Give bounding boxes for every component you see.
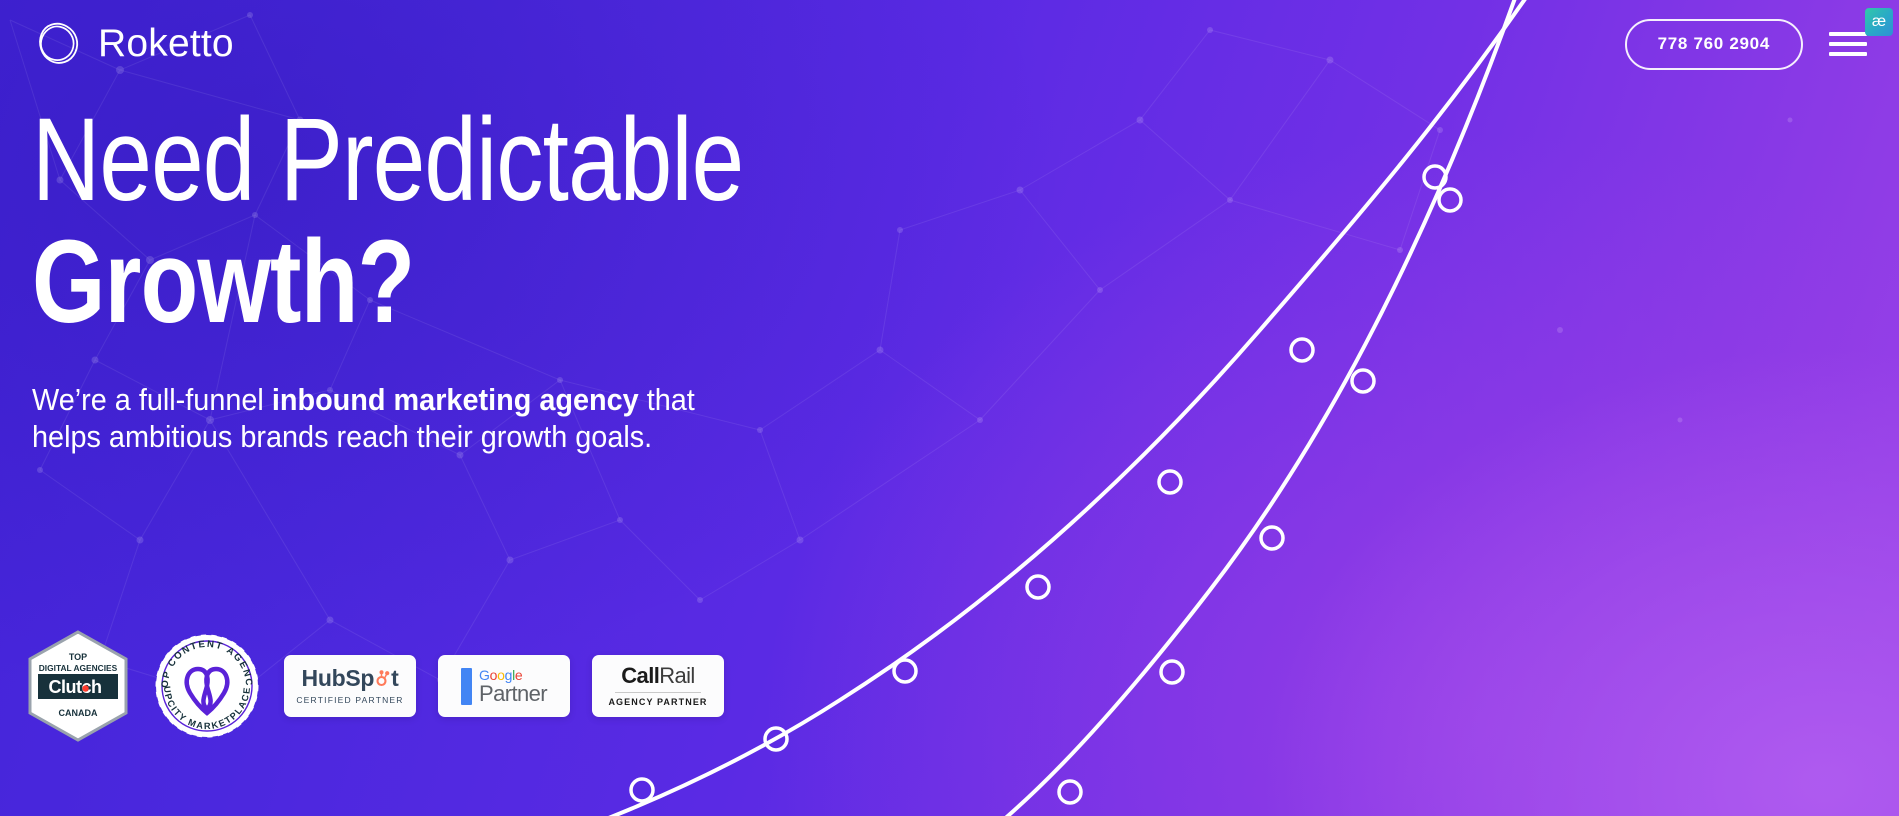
callrail-word-bold: Call [621,663,659,688]
clutch-accent-dot [82,685,88,691]
hero-subhead: We’re a full-funnel inbound marketing ag… [32,382,767,455]
hubspot-wordmark-tail: t [391,667,398,690]
hero-copy: Need Predictable Growth? We’re a full-fu… [32,103,921,455]
clutch-top-line: TOP [69,652,87,662]
hamburger-bar [1829,32,1867,36]
headline-line-1: Need Predictable [32,103,743,219]
hubspot-wordmark-main: HubSp [302,667,375,690]
clutch-award-badge[interactable]: TOP DIGITAL AGENCIES Clutch CANADA [26,630,130,742]
subhead-prefix: We’re a full-funnel [32,382,272,417]
brand-logo-link[interactable]: Roketto [34,19,234,69]
hubspot-sprocket-icon [374,670,391,687]
hubspot-subtitle: CERTIFIED PARTNER [296,695,403,705]
roketto-loop-icon [34,19,82,69]
callrail-divider [615,692,701,693]
headline-line-2: Growth? [32,225,743,341]
upcity-seal-badge[interactable]: TOP CONTENT AGENCY UPCITY MARKETPLACE [152,631,262,741]
hamburger-menu-icon[interactable] [1829,29,1867,59]
growth-curve-secondary [920,0,1525,816]
hamburger-bar [1829,42,1867,46]
ae-extension-icon[interactable]: æ [1865,8,1893,36]
brand-name: Roketto [98,22,234,66]
clutch-second-line: DIGITAL AGENCIES [39,663,118,673]
page-title: Need Predictable Growth? [32,103,921,340]
hamburger-bar [1829,52,1867,56]
header-actions: 778 760 2904 [1625,19,1879,70]
hubspot-partner-badge[interactable]: HubSp t CERTIFIED PARTNER [284,655,416,717]
award-badge-row: TOP DIGITAL AGENCIES Clutch CANADA [26,630,724,742]
google-partner-badge[interactable]: Google Partner [438,655,570,717]
callrail-subtitle: AGENCY PARTNER [608,697,707,707]
clutch-bottom-line: CANADA [59,708,98,718]
clutch-wordmark: Clutch [49,677,102,697]
google-blue-bar [461,668,472,705]
callrail-word-light: Rail [659,663,695,688]
callrail-partner-badge[interactable]: CallRail AGENCY PARTNER [592,655,724,717]
callrail-wordmark: CallRail [621,665,694,687]
subhead-emphasis: inbound marketing agency [272,382,639,417]
hubspot-wordmark: HubSp t [302,667,399,690]
site-header: Roketto 778 760 2904 [0,0,1899,88]
hero-section: Roketto 778 760 2904 æ Need Predictable … [0,0,1899,816]
google-wordmark: Google [479,668,522,682]
google-partner-word: Partner [479,683,547,705]
phone-button[interactable]: 778 760 2904 [1625,19,1803,70]
